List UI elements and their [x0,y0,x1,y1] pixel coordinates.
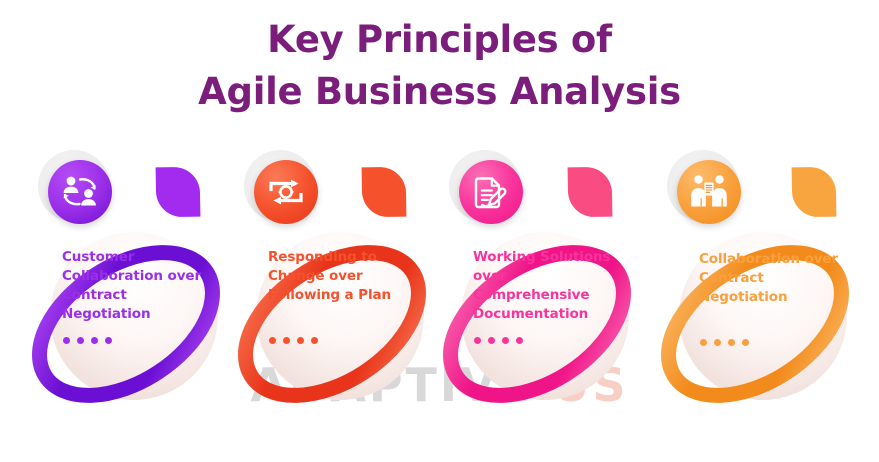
card-dot-indicators [269,337,318,344]
dot-indicator [311,337,318,344]
card-dot-indicators [63,337,112,344]
dot-indicator [105,337,112,344]
card-icon-badge[interactable] [248,155,320,227]
dot-indicator [488,337,495,344]
people-exchange-icon [48,160,112,224]
dot-indicator [283,337,290,344]
card-principle-text: Customer Collaboration over Contract Neg… [62,248,212,324]
dot-indicator [728,339,735,346]
dot-indicator [742,339,749,346]
principle-card-collaboration-contract: Collaboration over Contract Negotiation [651,140,869,418]
infographic-canvas: Key Principles of Agile Business Analysi… [0,0,879,462]
dot-indicator [502,337,509,344]
dot-indicator [269,337,276,344]
card-principle-text: Collaboration over Contract Negotiation [699,250,849,307]
card-swoosh-ring [228,212,446,418]
dot-indicator [77,337,84,344]
dot-indicator [474,337,481,344]
page-title: Key Principles of Agile Business Analysi… [0,14,879,118]
document-pen-icon [459,160,523,224]
principle-card-working-solutions: Working Solutions over Comprehensive Doc… [433,140,651,418]
card-principle-text: Responding to Change over Following a Pl… [268,248,418,305]
card-dot-indicators [700,339,749,346]
business-handshake-document-icon [677,160,741,224]
card-icon-badge[interactable] [453,155,525,227]
process-cycle-icon [254,160,318,224]
dot-indicator [63,337,70,344]
card-icon-badge[interactable] [42,155,114,227]
card-swoosh-ring [651,212,869,418]
page-title-line-1: Key Principles of [0,14,879,66]
card-dot-indicators [474,337,523,344]
dot-indicator [91,337,98,344]
principle-card-responding-to-change: Responding to Change over Following a Pl… [228,140,446,418]
principle-card-customer-collaboration: Customer Collaboration over Contract Neg… [22,140,240,418]
card-principle-text: Working Solutions over Comprehensive Doc… [473,248,623,324]
card-icon-badge[interactable] [671,155,743,227]
dot-indicator [714,339,721,346]
dot-indicator [700,339,707,346]
page-title-line-2: Agile Business Analysis [0,66,879,118]
dot-indicator [516,337,523,344]
dot-indicator [297,337,304,344]
